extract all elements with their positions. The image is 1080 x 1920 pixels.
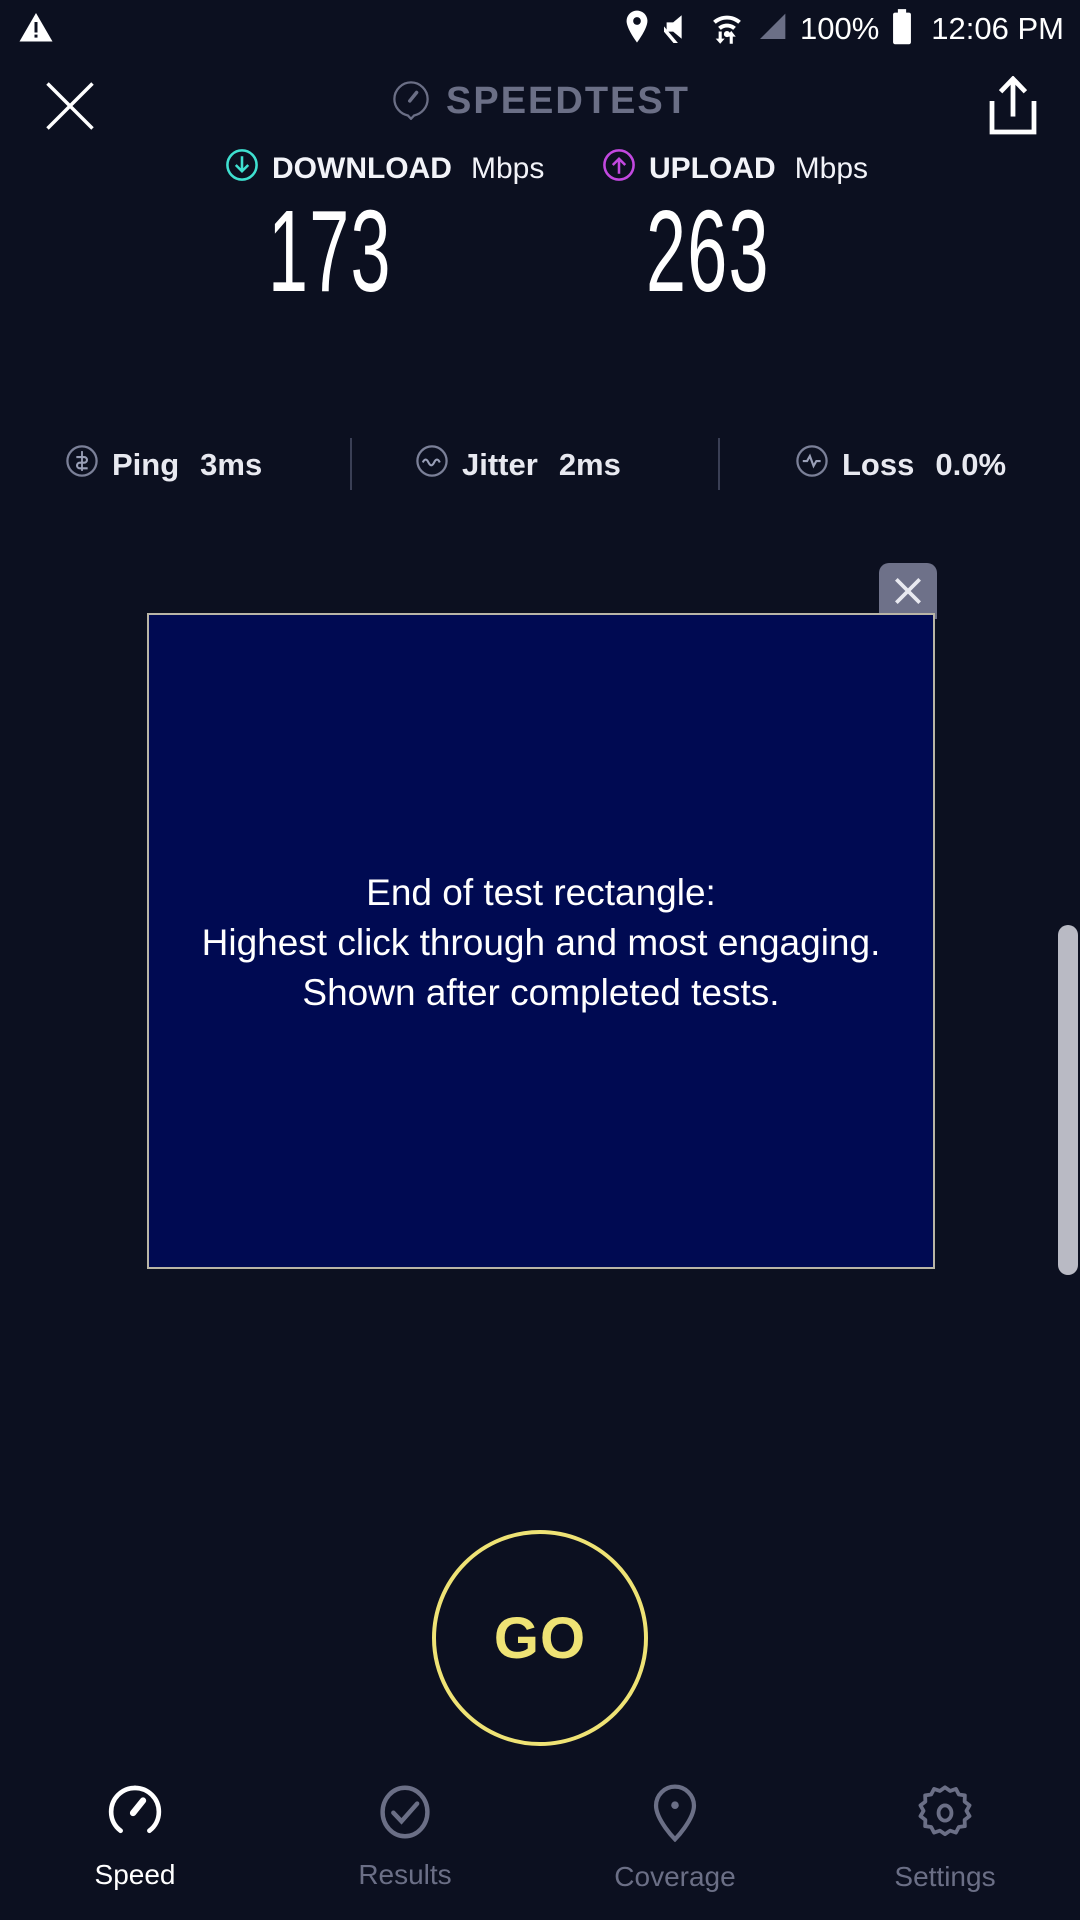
loss-label: Loss <box>842 447 914 483</box>
page-title: SPEEDTEST <box>0 78 1080 125</box>
go-button[interactable]: GO <box>432 1530 648 1746</box>
speedometer-icon <box>105 1784 165 1845</box>
jitter-value: 2ms <box>559 447 621 483</box>
nav-label-results: Results <box>358 1859 451 1891</box>
download-unit: Mbps <box>471 152 544 186</box>
jitter-label: Jitter <box>462 447 538 483</box>
jitter-metric: Jitter 2ms <box>415 444 621 486</box>
ad-close-button[interactable] <box>879 563 937 619</box>
volume-muted-icon <box>664 11 698 48</box>
nav-label-settings: Settings <box>894 1861 995 1893</box>
go-button-label: GO <box>494 1605 586 1672</box>
metrics-divider <box>718 438 720 490</box>
upload-unit: Mbps <box>795 152 868 186</box>
nav-item-settings[interactable]: Settings <box>810 1780 1080 1893</box>
bottom-navigation-bar: Speed Results Coverage <box>0 1780 1080 1920</box>
loss-icon <box>795 444 829 486</box>
location-pin-icon <box>622 10 652 49</box>
ping-label: Ping <box>112 447 179 483</box>
nav-label-coverage: Coverage <box>614 1861 735 1893</box>
battery-full-icon <box>891 9 913 50</box>
loss-metric: Loss 0.0% <box>795 444 1006 486</box>
nav-item-speed[interactable]: Speed <box>0 1780 270 1891</box>
status-bar-clock: 12:06 PM <box>931 11 1064 47</box>
upload-arrow-icon <box>602 148 636 190</box>
check-circle-icon <box>376 1784 434 1845</box>
upload-label: UPLOAD <box>649 152 776 186</box>
speed-labels-row: DOWNLOAD Mbps UPLOAD Mbps <box>0 140 1080 200</box>
upload-value: 263 <box>646 184 770 318</box>
ad-line-1: End of test rectangle: <box>149 868 933 918</box>
gear-icon <box>914 1784 976 1847</box>
app-header: SPEEDTEST <box>0 58 1080 150</box>
location-pin-icon <box>650 1784 700 1847</box>
share-upload-icon[interactable] <box>984 76 1042 138</box>
warning-triangle-icon <box>18 10 54 51</box>
speedtest-app-screen: 100% 12:06 PM SPEEDTEST <box>0 0 1080 1920</box>
ad-text: End of test rectangle: Highest click thr… <box>149 868 933 1018</box>
download-label: DOWNLOAD <box>272 152 452 186</box>
nav-label-speed: Speed <box>95 1859 176 1891</box>
ad-line-2: Highest click through and most engaging. <box>149 918 933 968</box>
vertical-scrollbar[interactable] <box>1058 925 1078 1275</box>
ping-metric: Ping 3ms <box>65 444 262 486</box>
metrics-divider <box>350 438 352 490</box>
speed-values-row: 173 263 <box>0 200 1080 310</box>
download-value: 173 <box>268 184 392 318</box>
jitter-icon <box>415 444 449 486</box>
battery-percent-label: 100% <box>800 11 879 47</box>
ad-line-3: Shown after completed tests. <box>149 968 933 1018</box>
cellular-signal-icon <box>756 11 788 48</box>
status-bar: 100% 12:06 PM <box>0 0 1080 58</box>
results-summary: DOWNLOAD Mbps UPLOAD Mbps 173 263 <box>0 140 1080 310</box>
speedometer-icon <box>390 78 432 125</box>
loss-value: 0.0% <box>935 447 1006 483</box>
nav-item-results[interactable]: Results <box>270 1780 540 1891</box>
download-arrow-icon <box>225 148 259 190</box>
ping-icon <box>65 444 99 486</box>
metrics-row: Ping 3ms Jitter 2ms <box>0 430 1080 500</box>
wifi-transfer-icon <box>710 9 744 50</box>
status-bar-right-group: 100% 12:06 PM <box>622 0 1064 58</box>
nav-item-coverage[interactable]: Coverage <box>540 1780 810 1893</box>
page-title-text: SPEEDTEST <box>446 80 690 123</box>
advertisement-banner[interactable]: End of test rectangle: Highest click thr… <box>147 613 935 1269</box>
ping-value: 3ms <box>200 447 262 483</box>
